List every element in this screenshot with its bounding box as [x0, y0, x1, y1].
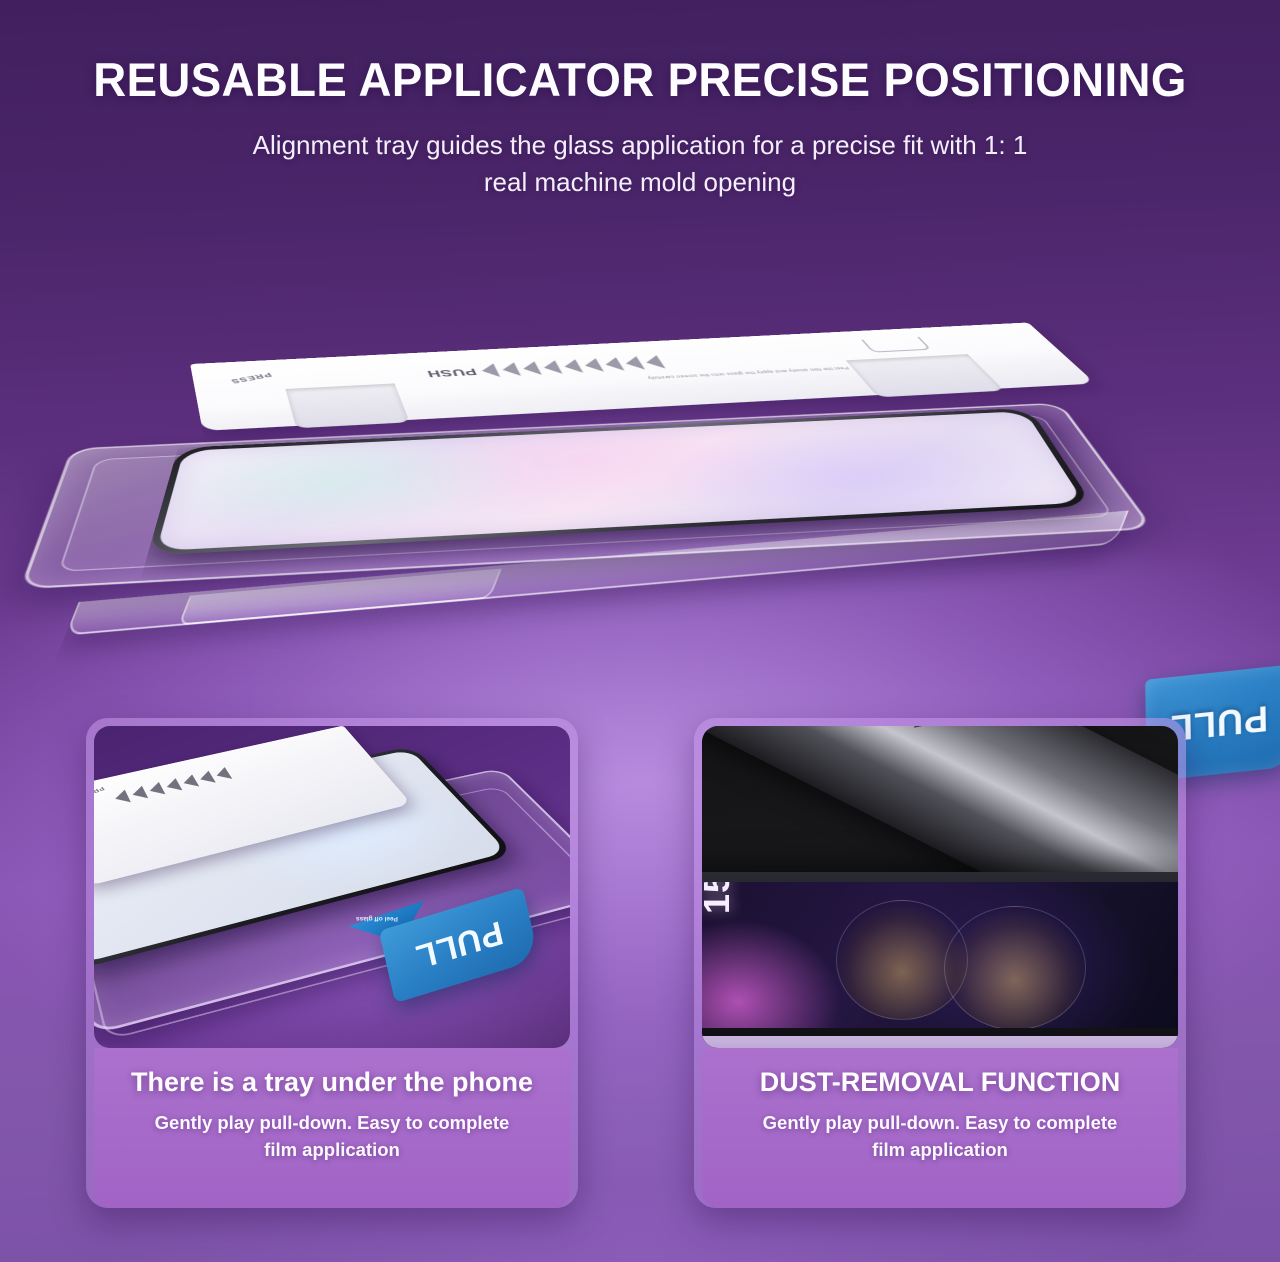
chevron-right-icon: [581, 358, 604, 372]
page-subtitle: Alignment tray guides the glass applicat…: [0, 127, 1280, 201]
applicator-cutout-right: [846, 354, 1005, 397]
chevron-right-icon: [914, 726, 936, 734]
applicator-notch: [861, 337, 931, 353]
push-direction-indicator: [112, 767, 232, 805]
chevron-right-icon: [520, 361, 542, 375]
card-title: DUST-REMOVAL FUNCTION: [702, 1066, 1178, 1098]
chevron-right-icon: [112, 790, 131, 806]
chevron-right-icon: [213, 767, 232, 782]
card-image-dust-removal: 15:05: [702, 726, 1178, 1048]
dust-particle-zone: [944, 906, 1086, 1028]
press-label: PRESS: [229, 371, 273, 384]
card-subtitle-line-1: Gently play pull-down. Easy to complete: [702, 1110, 1178, 1136]
chevron-right-icon: [540, 360, 562, 374]
pull-tab-label: PULL: [411, 913, 506, 976]
chevron-right-icon: [642, 355, 665, 369]
card-subtitle: Gently play pull-down. Easy to complete …: [702, 1110, 1178, 1163]
chevron-right-icon: [180, 774, 199, 789]
chevron-right-icon: [197, 771, 216, 786]
phone-body: 15:05: [702, 872, 1178, 1048]
card-subtitle-line-1: Gently play pull-down. Easy to complete: [94, 1110, 570, 1136]
hero-stage: PRESS PUSH Peel the film slowly and a: [40, 320, 1240, 650]
card-subtitle-line-2: film application: [702, 1137, 1178, 1163]
card-subtitle: Gently play pull-down. Easy to complete …: [94, 1110, 570, 1163]
chevron-right-icon: [601, 357, 624, 371]
card-subtitle-line-2: film application: [94, 1137, 570, 1163]
hero-product-image: PRESS PUSH Peel the film slowly and a: [0, 300, 1280, 680]
card-image-tray-under-phone: PRESS Peel off glass: [94, 726, 570, 1048]
subtitle-line-1: Alignment tray guides the glass applicat…: [0, 127, 1280, 164]
chevron-right-icon: [163, 778, 182, 793]
press-label: PRESS: [94, 786, 106, 800]
push-label: PUSH: [425, 366, 479, 379]
feature-card-dust-removal: 15:05 DUST-REMOVAL FUNCTION Gently play: [694, 718, 1186, 1208]
chevron-right-icon: [130, 786, 149, 801]
chevron-right-icon: [622, 356, 645, 370]
header: REUSABLE APPLICATOR PRECISE POSITIONING …: [0, 0, 1280, 201]
chevron-right-icon: [499, 362, 521, 376]
chevron-right-icon: [479, 363, 500, 377]
chevron-right-icon: [561, 359, 583, 373]
peel-arrow-label: Peel off glass: [356, 915, 398, 922]
phone-screen: 15:05: [702, 882, 1178, 1028]
phone-clock: 15:05: [702, 882, 738, 914]
product-feature-page: REUSABLE APPLICATOR PRECISE POSITIONING …: [0, 0, 1280, 1262]
card-caption: DUST-REMOVAL FUNCTION Gently play pull-d…: [702, 1048, 1178, 1208]
glass-chevron-strip: [783, 726, 936, 734]
card-title: There is a tray under the phone: [94, 1066, 570, 1098]
card-caption: There is a tray under the phone Gently p…: [94, 1048, 570, 1208]
subtitle-line-2: real machine mold opening: [0, 164, 1280, 201]
chevron-right-icon: [147, 782, 166, 797]
page-title: REUSABLE APPLICATOR PRECISE POSITIONING: [19, 52, 1261, 107]
feature-card-tray-under-phone: PRESS Peel off glass: [86, 718, 578, 1208]
applicator-cutout-left: [285, 383, 409, 428]
feature-cards: PRESS Peel off glass: [0, 718, 1280, 1218]
phone-bottom-edge: [702, 1036, 1178, 1048]
